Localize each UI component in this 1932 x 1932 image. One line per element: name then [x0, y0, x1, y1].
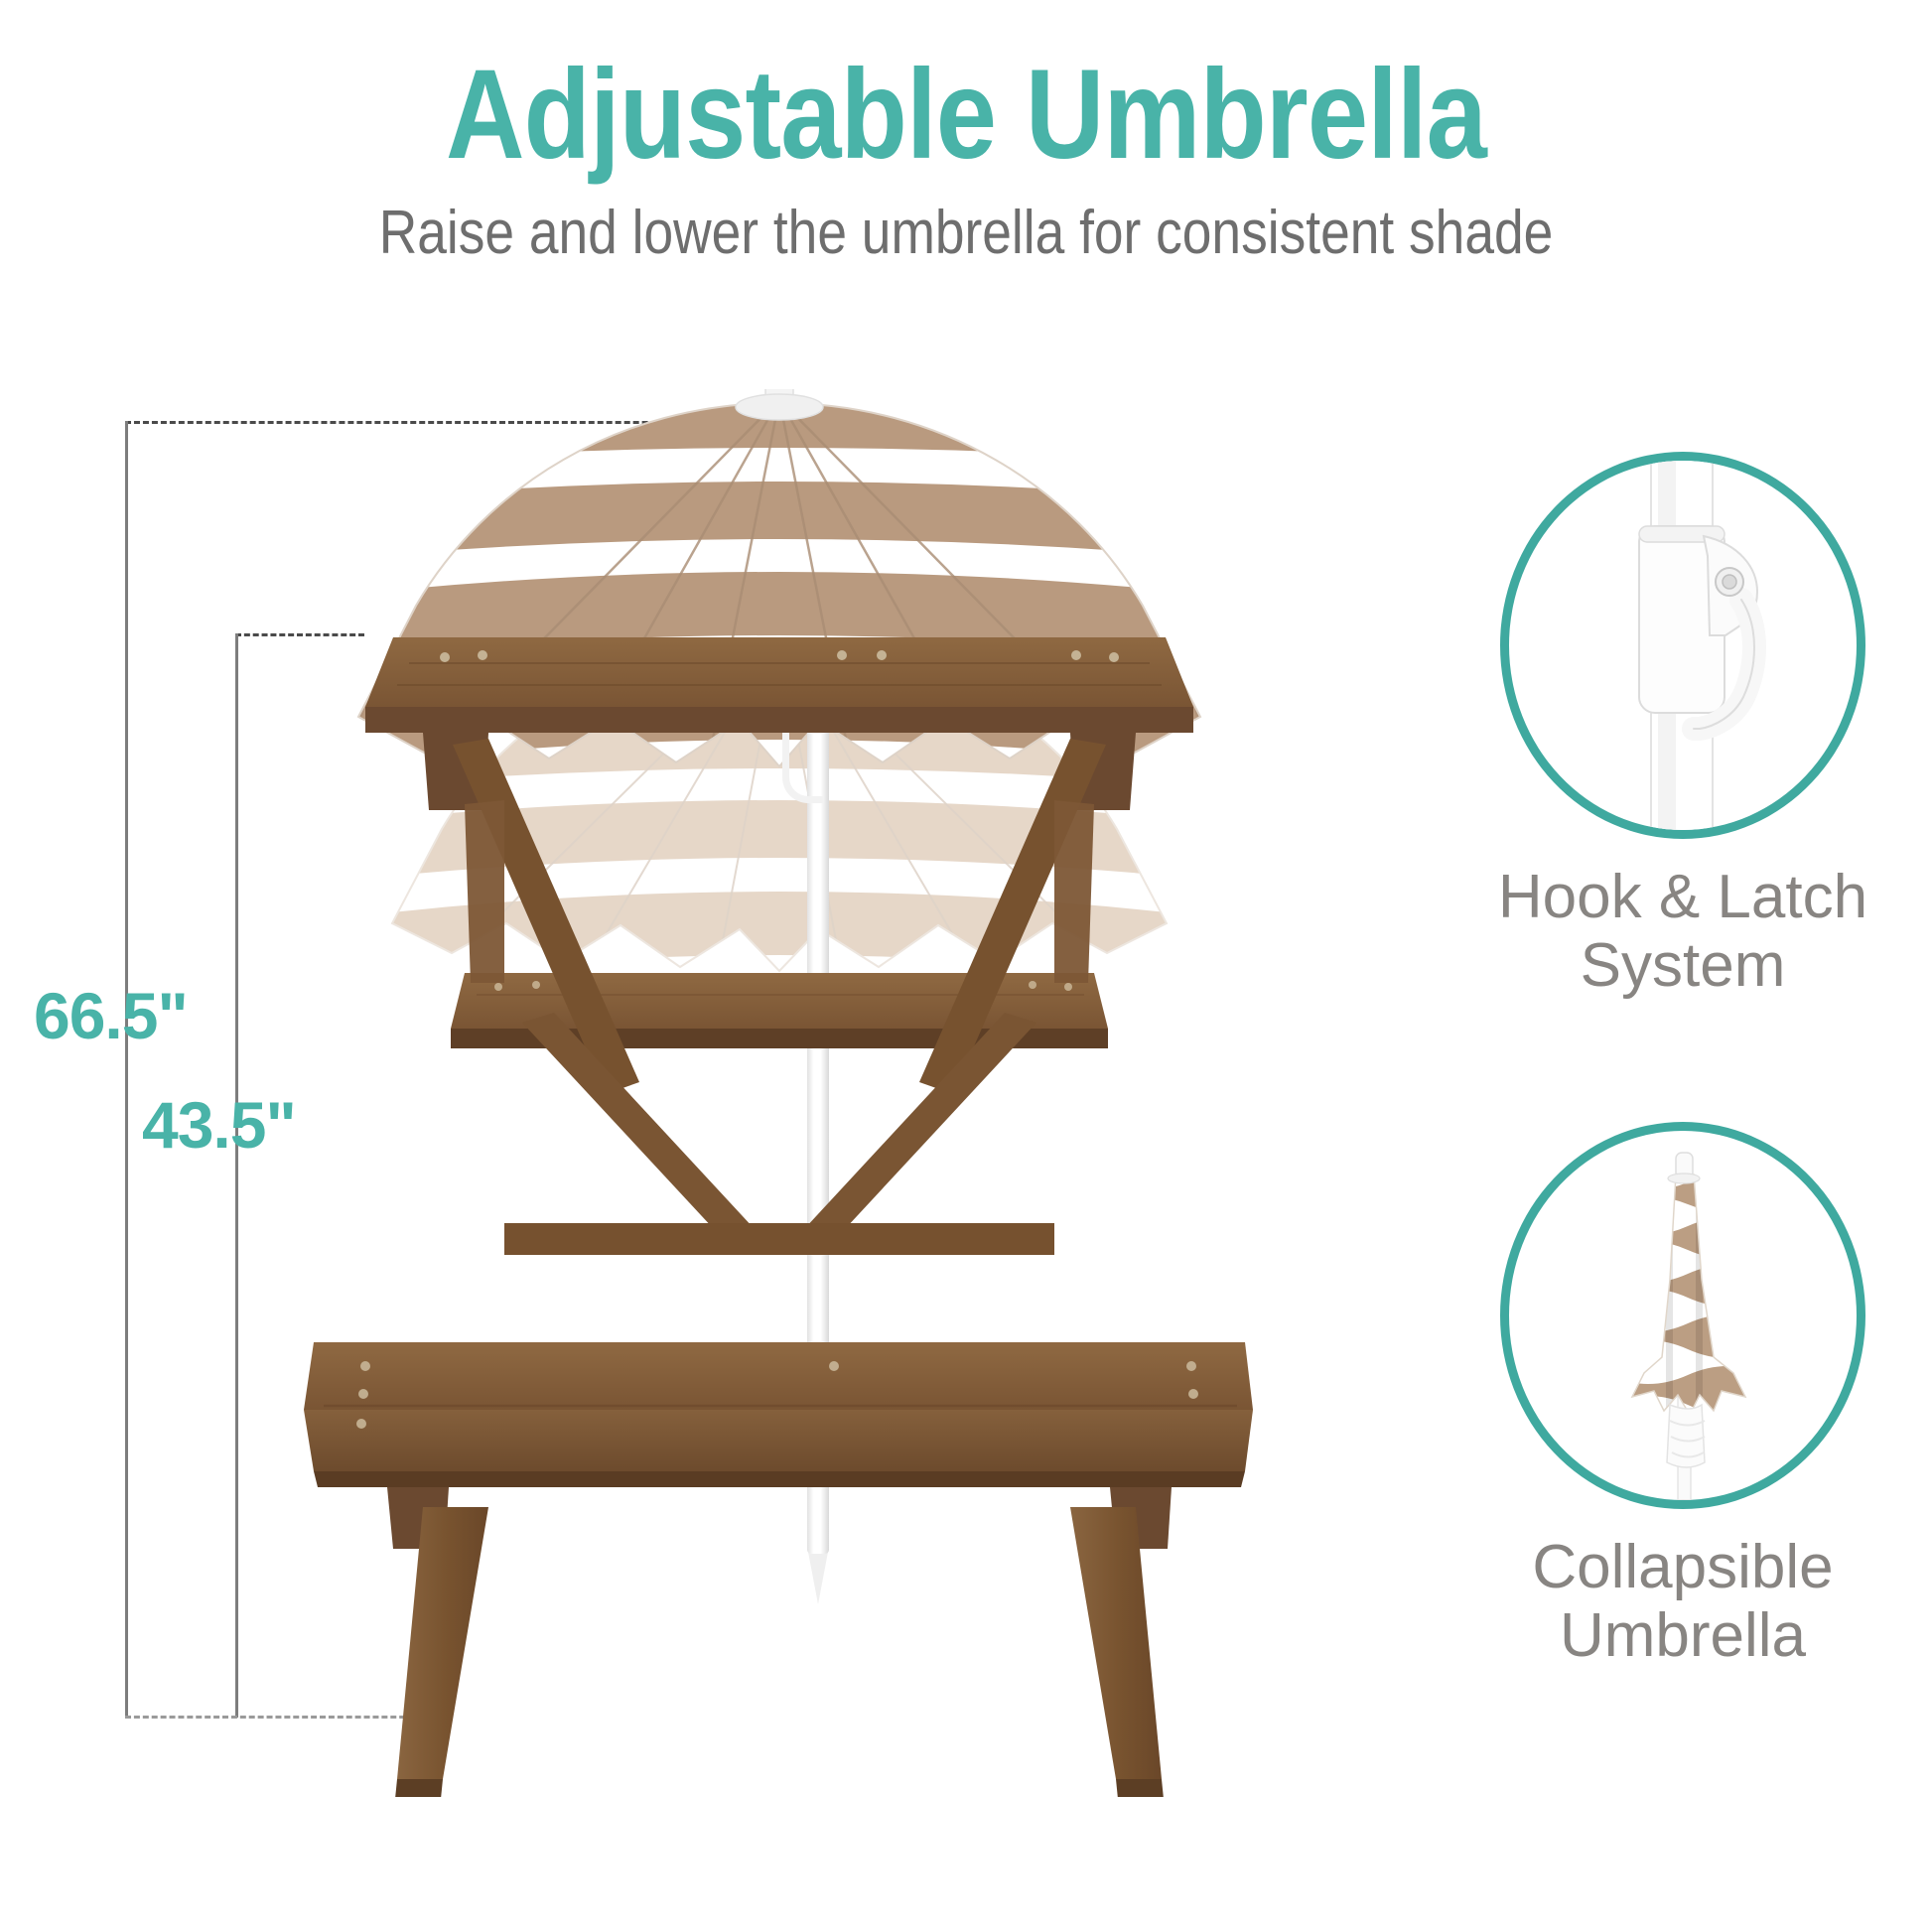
hook-latch-circle: [1500, 452, 1865, 839]
callout-hook-latch-label-line2: System: [1469, 931, 1896, 1000]
page-subtitle: Raise and lower the umbrella for consist…: [135, 179, 1797, 264]
callout-hook-latch-label: Hook & Latch System: [1469, 863, 1896, 1001]
callout-hook-latch-label-line1: Hook & Latch: [1469, 863, 1896, 931]
header: Adjustable Umbrella Raise and lower the …: [0, 0, 1932, 264]
page-title: Adjustable Umbrella: [135, 0, 1797, 179]
dimension-line-overall-height: [125, 421, 128, 1718]
callout-collapsible-umbrella: Collapsible Umbrella: [1469, 1122, 1896, 1671]
callout-collapsible-umbrella-label-line1: Collapsible: [1469, 1533, 1896, 1601]
table-top: [365, 637, 1193, 733]
table-legs: [395, 800, 1164, 1797]
callout-collapsible-umbrella-label: Collapsible Umbrella: [1469, 1533, 1896, 1671]
closed-umbrella-icon: [1509, 1131, 1857, 1500]
picnic-table: [238, 328, 1320, 1797]
bench-brackets: [387, 1487, 1172, 1549]
table-top-brackets: [423, 733, 1136, 810]
hook-latch-icon: [1509, 461, 1857, 830]
callout-hook-latch: Hook & Latch System: [1469, 452, 1896, 1001]
product-illustration: [238, 328, 1320, 1797]
dimension-label-overall-height: 66.5": [34, 978, 188, 1053]
callout-collapsible-umbrella-label-line2: Umbrella: [1469, 1601, 1896, 1670]
collapsible-umbrella-circle: [1500, 1122, 1865, 1509]
table-bench-front: [304, 1342, 1253, 1487]
